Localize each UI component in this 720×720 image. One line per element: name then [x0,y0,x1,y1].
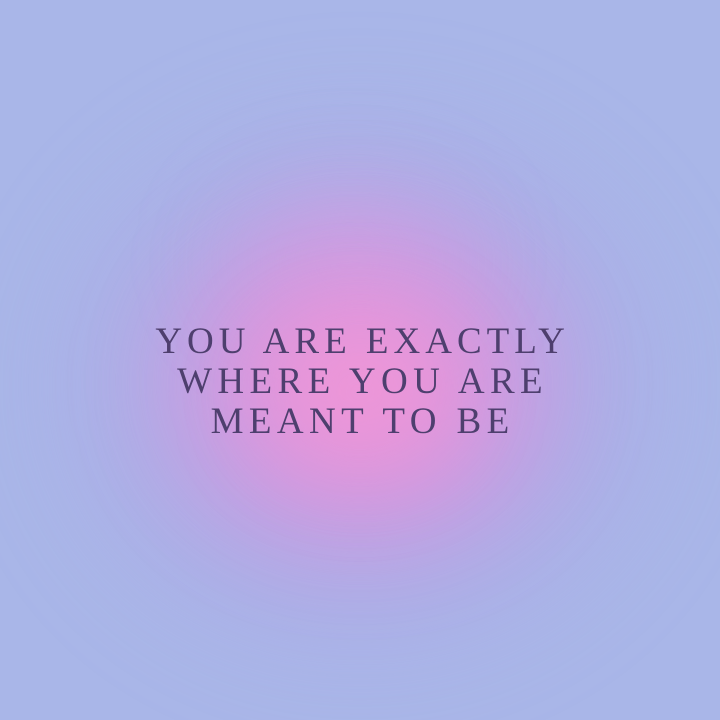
quote-image-canvas: YOU ARE EXACTLY WHERE YOU ARE MEANT TO B… [0,0,720,720]
quote-line-3: MEANT TO BE [0,402,720,442]
quote-line-1: YOU ARE EXACTLY [0,322,720,362]
quote-text-block: YOU ARE EXACTLY WHERE YOU ARE MEANT TO B… [0,322,720,442]
quote-line-2: WHERE YOU ARE [0,362,720,402]
